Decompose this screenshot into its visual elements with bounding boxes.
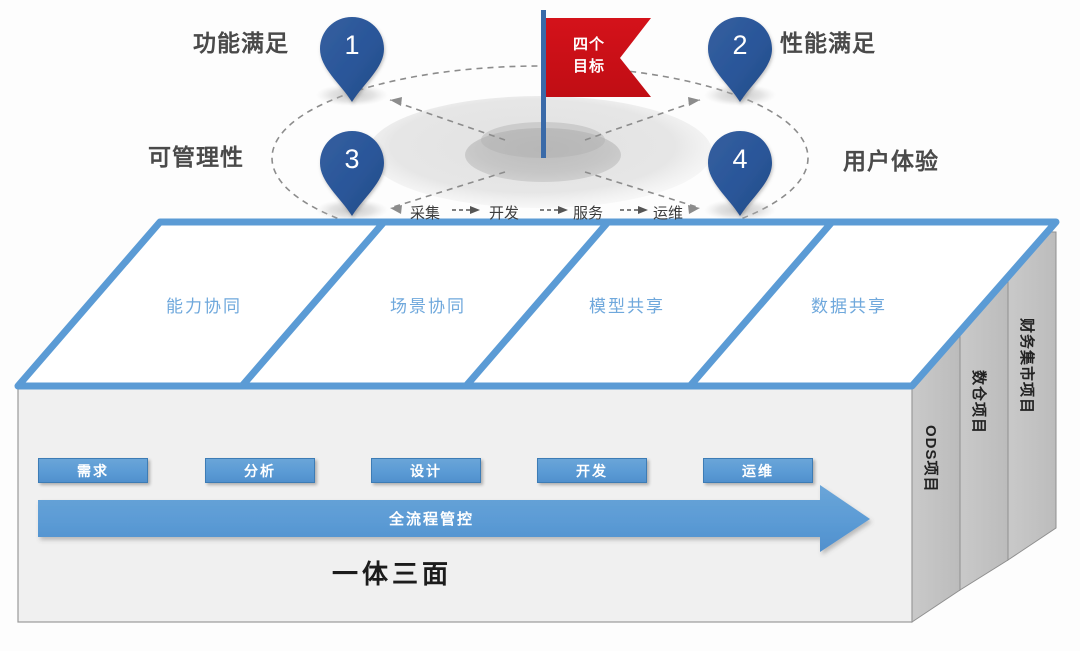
flow-word-ops: 运维	[653, 202, 683, 223]
stage-button-operations[interactable]: 运维	[703, 458, 813, 483]
top-panel-label-data[interactable]: 数据共享	[811, 292, 887, 317]
diagram-graphics-layer	[0, 0, 1080, 651]
side-panel-label-finance[interactable]: 财务集市项目	[1017, 318, 1038, 414]
top-panel-label-model[interactable]: 模型共享	[589, 292, 665, 317]
pin-number-2: 2	[717, 30, 763, 61]
goal-label-function: 功能满足	[193, 24, 289, 58]
arrowhead-pin-2	[688, 97, 700, 106]
pin-number-3: 3	[329, 144, 375, 175]
pin-number-1: 1	[329, 30, 375, 61]
flag-label-line-2: 目标	[566, 58, 612, 76]
flow-word-service: 服务	[573, 202, 603, 223]
arrowhead-pin-1	[390, 97, 402, 106]
flow-word-collect: 采集	[410, 202, 440, 223]
top-panel-label-scenario[interactable]: 场景协同	[390, 292, 466, 317]
flow-word-develop: 开发	[489, 202, 519, 223]
flag-label-line-1: 四个	[566, 36, 612, 54]
stage-button-analysis[interactable]: 分析	[205, 458, 315, 483]
goal-label-manageability: 可管理性	[148, 138, 244, 172]
flow-head-3	[638, 206, 648, 214]
top-panel-label-capability[interactable]: 能力协同	[166, 292, 242, 317]
goal-label-performance: 性能满足	[780, 24, 876, 58]
side-panel-label-dw[interactable]: 数仓项目	[969, 370, 990, 434]
stage-button-design[interactable]: 设计	[371, 458, 481, 483]
process-arrow-label: 全流程管控	[389, 508, 474, 529]
side-panel-label-ods[interactable]: ODS项目	[921, 425, 942, 493]
flow-head-1	[470, 206, 480, 214]
flag-pole	[541, 10, 546, 158]
stage-button-develop[interactable]: 开发	[537, 458, 647, 483]
bottom-title: 一体三面	[332, 554, 452, 591]
diagram-canvas: 1 2 3 4 功能满足 性能满足 可管理性 用户体验 四个 目标 采集 开发 …	[0, 0, 1080, 651]
stage-button-requirement[interactable]: 需求	[38, 458, 148, 483]
pin-number-4: 4	[717, 144, 763, 175]
center-green-group	[368, 96, 712, 208]
goal-label-user-experience: 用户体验	[843, 142, 939, 176]
